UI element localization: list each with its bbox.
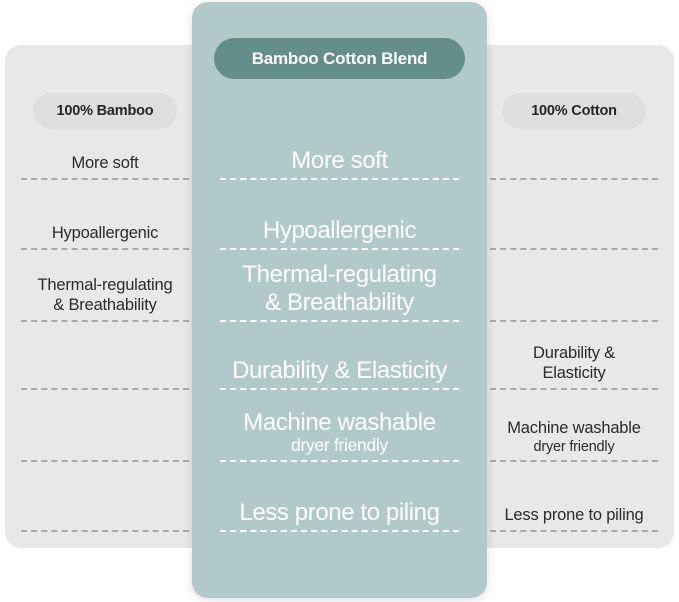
feature-label: Hypoallergenic [52,224,158,244]
feature-label: Thermal-regulating& Breathability [38,276,173,316]
comparison-infographic: 100% Bamboo More softHypoallergenicTherm… [0,0,679,602]
feature-rows-blend: More softHypoallergenicThermal-regulatin… [220,2,459,598]
feature-sublabel: dryer friendly [533,439,614,456]
feature-sublabel: dryer friendly [291,436,388,456]
row-divider [21,248,189,250]
feature-row: Machine washabledryer friendly [490,392,658,462]
row-divider [220,530,459,532]
feature-label: Durability &Elasticity [533,344,615,384]
row-divider [21,178,189,180]
feature-label: More soft [72,154,139,174]
row-divider [220,248,459,250]
row-divider [220,460,459,462]
feature-row: Durability &Elasticity [490,324,658,390]
feature-label: Hypoallergenic [263,217,416,244]
feature-label: Durability & Elasticity [232,357,447,384]
row-divider [490,320,658,322]
feature-label: Thermal-regulating& Breathability [242,261,436,316]
feature-row: Less prone to piling [490,464,658,532]
feature-row: More soft [220,130,459,180]
feature-row: Durability & Elasticity [220,324,459,390]
feature-row: Thermal-regulating& Breathability [220,252,459,322]
feature-row [21,392,189,462]
feature-row [490,252,658,322]
feature-label: Less prone to piling [239,499,439,526]
feature-row [21,464,189,532]
feature-label: Machine washable [243,409,435,436]
row-divider [220,178,459,180]
feature-row [21,324,189,390]
feature-row: More soft [21,130,189,180]
row-divider [490,178,658,180]
feature-row: Less prone to piling [220,464,459,532]
feature-label: Machine washable [507,419,640,439]
row-divider [490,248,658,250]
row-divider [21,388,189,390]
row-divider [220,388,459,390]
feature-row: Hypoallergenic [21,182,189,250]
feature-row [490,130,658,180]
feature-row: Thermal-regulating& Breathability [21,252,189,322]
feature-row [490,182,658,250]
row-divider [21,460,189,462]
column-panel-blend: Bamboo Cotton Blend More softHypoallerge… [192,2,487,598]
row-divider [21,320,189,322]
row-divider [220,320,459,322]
feature-label: More soft [291,147,387,174]
row-divider [490,388,658,390]
feature-row: Hypoallergenic [220,182,459,250]
feature-row: Machine washabledryer friendly [220,392,459,462]
feature-rows-cotton: Durability &ElasticityMachine washabledr… [490,45,658,548]
row-divider [21,530,189,532]
feature-label: Less prone to piling [504,506,643,526]
row-divider [490,530,658,532]
column-panel-bamboo: 100% Bamboo More softHypoallergenicTherm… [5,45,205,548]
column-panel-cotton: 100% Cotton Durability &ElasticityMachin… [474,45,674,548]
row-divider [490,460,658,462]
feature-rows-bamboo: More softHypoallergenicThermal-regulatin… [21,45,189,548]
